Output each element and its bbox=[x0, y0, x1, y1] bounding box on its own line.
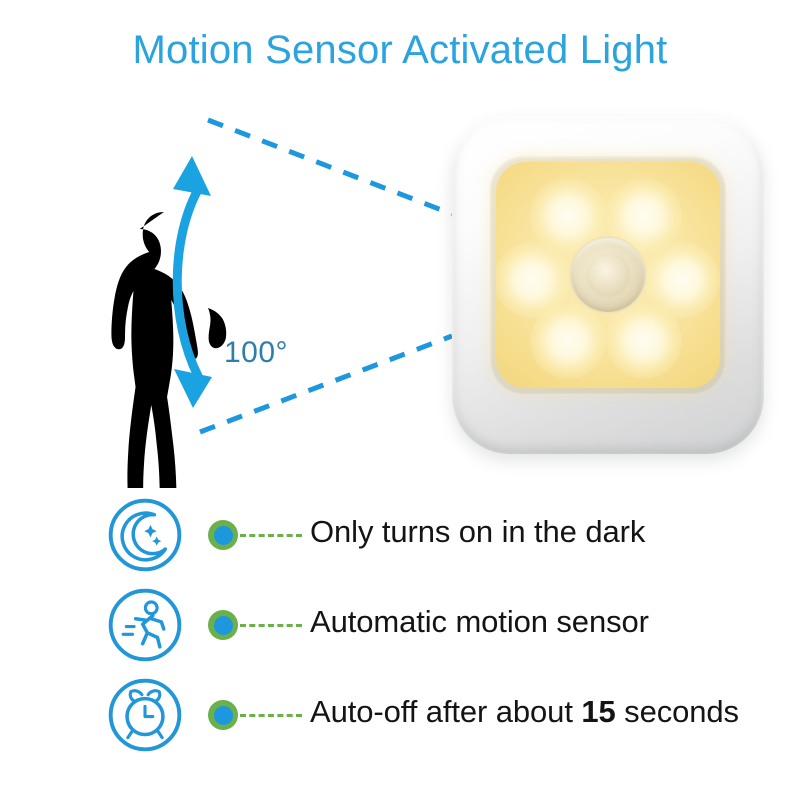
light-diffuser-panel bbox=[496, 162, 720, 388]
infographic-page: Motion Sensor Activated Light 100° bbox=[0, 0, 800, 800]
angle-label: 100° bbox=[224, 336, 288, 370]
walking-person-silhouette bbox=[111, 212, 226, 488]
angle-arrow-head-top bbox=[173, 156, 211, 196]
feature-bullet bbox=[208, 610, 238, 640]
hero-illustration: 100° bbox=[0, 88, 800, 488]
feature-bullet-core bbox=[214, 526, 233, 545]
feature-label: Auto-off after about 15 seconds bbox=[310, 694, 739, 730]
feature-bullet bbox=[208, 700, 238, 730]
feature-label: Only turns on in the dark bbox=[310, 514, 645, 550]
feature-row-autooff: Auto-off after about 15 seconds bbox=[0, 670, 800, 760]
led-bottom-right bbox=[606, 303, 682, 379]
detection-cone bbox=[200, 120, 452, 432]
page-title: Motion Sensor Activated Light bbox=[0, 28, 800, 73]
feature-label-highlight: 15 bbox=[581, 694, 615, 729]
motion-sensor-light bbox=[452, 116, 764, 454]
feature-row-dark: Only turns on in the dark bbox=[0, 490, 800, 580]
alarm-clock-icon bbox=[106, 676, 184, 754]
led-bottom-left bbox=[530, 303, 606, 379]
pir-sensor-dome bbox=[571, 238, 645, 312]
feature-label: Automatic motion sensor bbox=[310, 604, 649, 640]
feature-connector-line bbox=[240, 534, 302, 537]
feature-label-prefix: Auto-off after about bbox=[310, 694, 581, 729]
feature-bullet-core bbox=[214, 706, 233, 725]
feature-bullet bbox=[208, 520, 238, 550]
cone-line-upper bbox=[208, 120, 452, 214]
feature-connector-line bbox=[240, 714, 302, 717]
feature-label-suffix: seconds bbox=[616, 694, 739, 729]
feature-row-motion: Automatic motion sensor bbox=[0, 580, 800, 670]
angle-arc bbox=[173, 156, 212, 408]
angle-arrow-head-bottom bbox=[174, 369, 212, 408]
feature-list: Only turns on in the dark Automatic moti… bbox=[0, 490, 800, 760]
running-person-icon bbox=[106, 586, 184, 664]
pir-sensor-lens bbox=[586, 253, 630, 297]
moon-icon bbox=[106, 496, 184, 574]
feature-connector-line bbox=[240, 624, 302, 627]
feature-bullet-core bbox=[214, 616, 233, 635]
